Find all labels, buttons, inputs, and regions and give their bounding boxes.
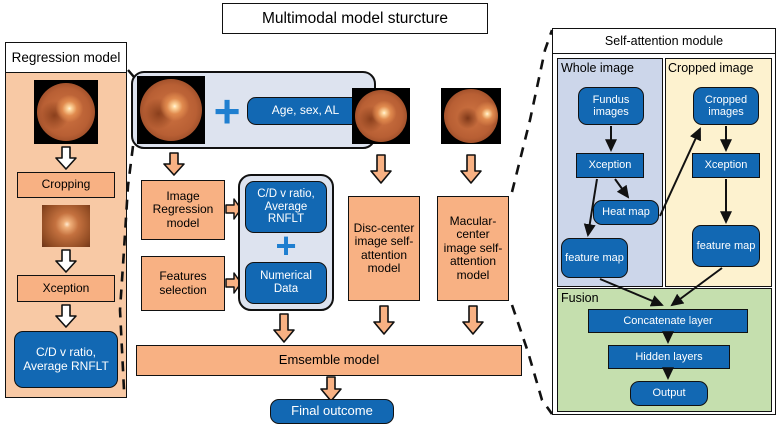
whole-image-label: Whole image [561,61,634,75]
fundus-image-disc [137,76,205,144]
cd-ratio-rnflt-box-left[interactable]: C/D v ratio, Average RNFLT [14,331,118,388]
fundus-image-macular-center [441,88,501,144]
arrow-down-from-regression-group [273,313,295,343]
xception-box-left[interactable]: Xception [17,275,115,302]
arrow-down-from-macular-model [462,305,484,335]
output-node[interactable]: Output [630,381,708,406]
page-title: Multimodal model sturcture [222,3,488,34]
heat-map-node[interactable]: Heat map [593,200,659,225]
hidden-layers-node[interactable]: Hidden layers [608,345,730,369]
arrow-down-to-disc-model [370,154,392,184]
fusion-label: Fusion [561,291,599,305]
image-regression-model-box[interactable]: Image Regression model [141,180,225,240]
arrow-down-to-cropping [55,146,77,170]
fundus-image-cropped [42,205,90,247]
xception-node-cropped[interactable]: Xception [692,153,760,178]
concatenate-layer-node[interactable]: Concatenate layer [588,309,748,333]
final-outcome-box[interactable]: Final outcome [270,399,394,424]
macular-center-model-box[interactable]: Macular-center image self-attention mode… [437,196,509,301]
covariates-box[interactable]: Age, sex, AL [247,97,364,125]
self-attention-module-header: Self-attention module [552,28,776,54]
disc-center-model-box[interactable]: Disc-center image self-attention model [348,196,420,301]
cropped-image-label: Cropped image [668,61,753,75]
arrow-down-to-macular-model [460,154,482,184]
arrow-down-from-disc-model [373,305,395,335]
fundus-images-node[interactable]: Fundus images [578,87,644,125]
xception-node-whole[interactable]: Xception [576,153,644,178]
cropping-box[interactable]: Cropping [17,172,115,198]
regression-model-header: Regression model [5,42,127,73]
arrow-down-to-image-regression [163,152,185,176]
arrow-down-to-cd-ratio-left [55,304,77,328]
plus-icon-input: + [210,94,244,128]
feature-map-node-cropped[interactable]: feature map [692,225,760,267]
fundus-image-disc-center [352,88,410,144]
numerical-data-box[interactable]: Numerical Data [245,262,327,304]
cropped-images-node[interactable]: Cropped images [693,87,759,125]
feature-map-node-whole[interactable]: feature map [561,238,628,278]
plus-icon-output: + [272,232,300,260]
fundus-image-whole [34,80,98,144]
features-selection-box[interactable]: Features selection [141,256,225,311]
arrow-down-to-xception-left [55,249,77,273]
ensemble-model-box[interactable]: Emsemble model [136,345,522,376]
